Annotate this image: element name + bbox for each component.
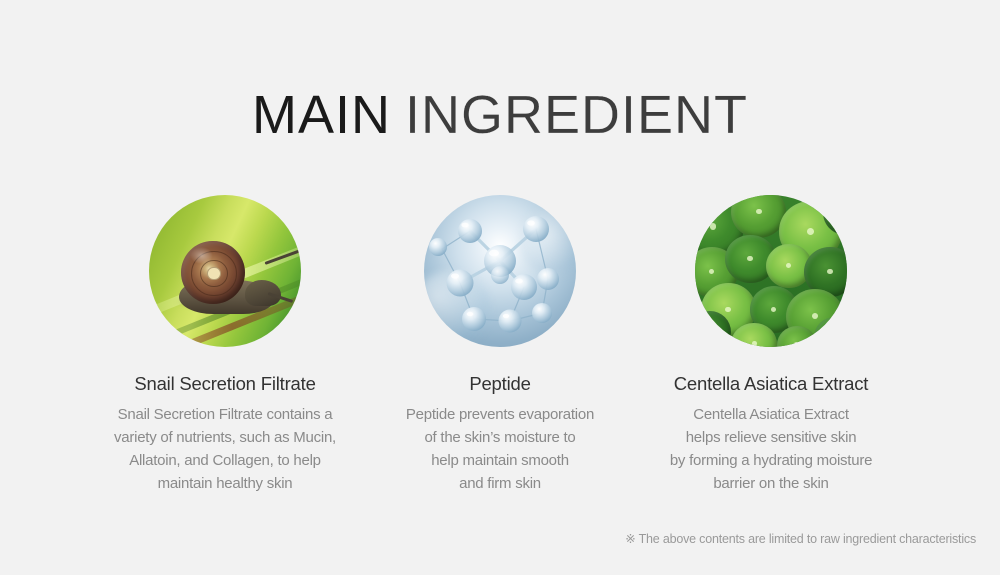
peptide-molecule-illustration xyxy=(424,195,576,347)
snail-leaf-background xyxy=(149,195,301,347)
centella-asiatica-leaves-photo xyxy=(695,195,847,347)
ingredient-name: Centella Asiatica Extract xyxy=(621,373,921,395)
description-line: helps relieve sensitive skin xyxy=(621,427,921,450)
page-title-strong: MAIN xyxy=(252,85,391,145)
shell-highlight xyxy=(190,247,213,264)
description-line: barrier on the skin xyxy=(621,473,921,496)
molecule-atoms xyxy=(429,216,559,333)
footnote: ※ The above contents are limited to raw … xyxy=(625,531,976,546)
description-line: of the skin’s moisture to xyxy=(350,427,650,450)
description-line: Allatoin, and Collagen, to help xyxy=(75,450,375,473)
snail-head xyxy=(245,280,281,306)
molecule-background xyxy=(424,195,576,347)
footnote-text: The above contents are limited to raw in… xyxy=(639,532,976,546)
description-line: Centella Asiatica Extract xyxy=(621,404,921,427)
ingredient-name: Snail Secretion Filtrate xyxy=(75,373,375,395)
description-line: variety of nutrients, such as Mucin, xyxy=(75,427,375,450)
page-title: MAININGREDIENT xyxy=(0,84,1000,146)
page-title-light: INGREDIENT xyxy=(405,84,748,146)
ingredient-card-centella-asiatica-extract: Centella Asiatica Extract Centella Asiat… xyxy=(621,195,921,495)
description-line: Snail Secretion Filtrate contains a xyxy=(75,404,375,427)
ingredient-description: Snail Secretion Filtrate contains a vari… xyxy=(75,404,375,495)
main-ingredient-infographic: MAININGREDIENT xyxy=(0,0,1000,575)
centella-leaves-background xyxy=(695,195,847,347)
ingredient-name: Peptide xyxy=(350,373,650,395)
description-line: and firm skin xyxy=(350,473,650,496)
snail-on-leaf-photo xyxy=(149,195,301,347)
ingredient-columns: Snail Secretion Filtrate Snail Secretion… xyxy=(0,195,1000,515)
description-line: by forming a hydrating moisture xyxy=(621,450,921,473)
ingredient-description: Peptide prevents evaporation of the skin… xyxy=(350,404,650,495)
ingredient-card-peptide: Peptide Peptide prevents evaporation of … xyxy=(350,195,650,495)
centella-leaf xyxy=(731,195,786,238)
description-line: Peptide prevents evaporation xyxy=(350,404,650,427)
molecule-structure xyxy=(424,195,576,347)
description-line: maintain healthy skin xyxy=(75,473,375,496)
shell-ring-inner xyxy=(207,267,220,280)
ingredient-description: Centella Asiatica Extract helps relieve … xyxy=(621,404,921,495)
snail-shell xyxy=(181,241,245,305)
ingredient-card-snail-secretion-filtrate: Snail Secretion Filtrate Snail Secretion… xyxy=(75,195,375,495)
description-line: help maintain smooth xyxy=(350,450,650,473)
reference-mark-icon: ※ xyxy=(625,532,635,546)
